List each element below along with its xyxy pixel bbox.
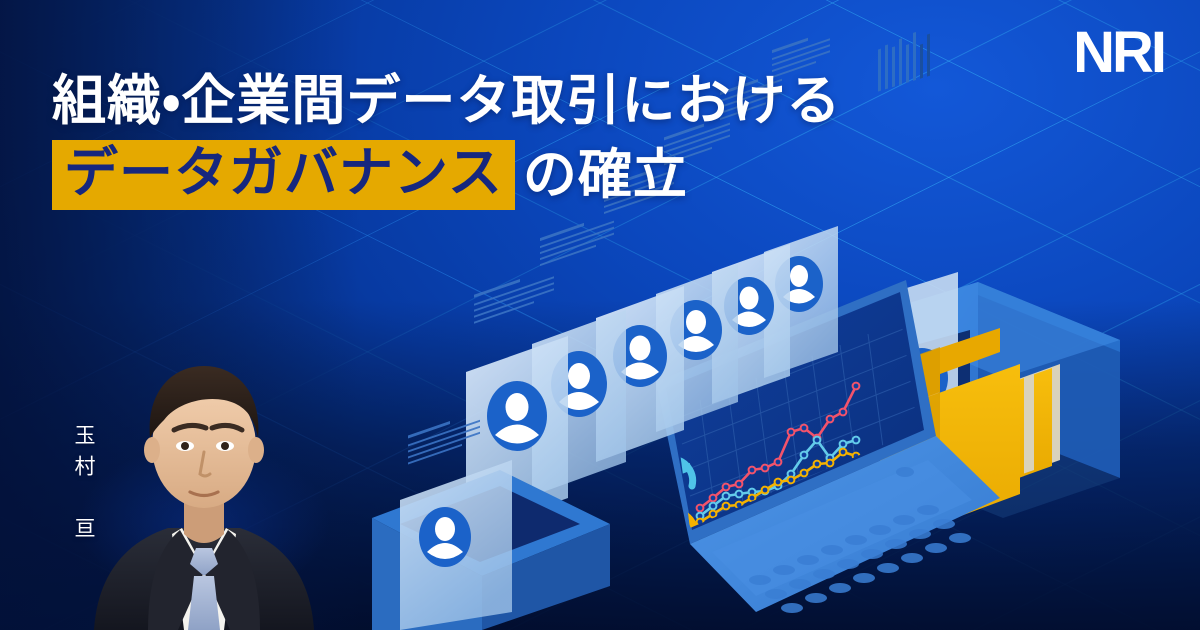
author-portrait xyxy=(84,300,324,630)
headline-block: 組織・企業間データ取引における データガバナンス の確立 xyxy=(52,72,992,210)
headline-line-2: データガバナンス の確立 xyxy=(52,140,992,210)
gauge-middle-value: 50% xyxy=(672,541,686,548)
headline-line-2-tail: の確立 xyxy=(523,148,688,202)
headline-line-1: 組織・企業間データ取引における xyxy=(52,72,992,130)
author-name: 玉村 亘 xyxy=(64,424,98,548)
gauge-bottom-value: 30% xyxy=(675,594,689,601)
nri-logo: NRI xyxy=(1073,24,1164,82)
poster-canvas: 70% 50% 30% xyxy=(0,0,1200,630)
gauge-bottom: 30% xyxy=(655,565,699,606)
headline-highlight: データガバナンス xyxy=(52,140,515,210)
portrait-illustration xyxy=(84,300,324,630)
